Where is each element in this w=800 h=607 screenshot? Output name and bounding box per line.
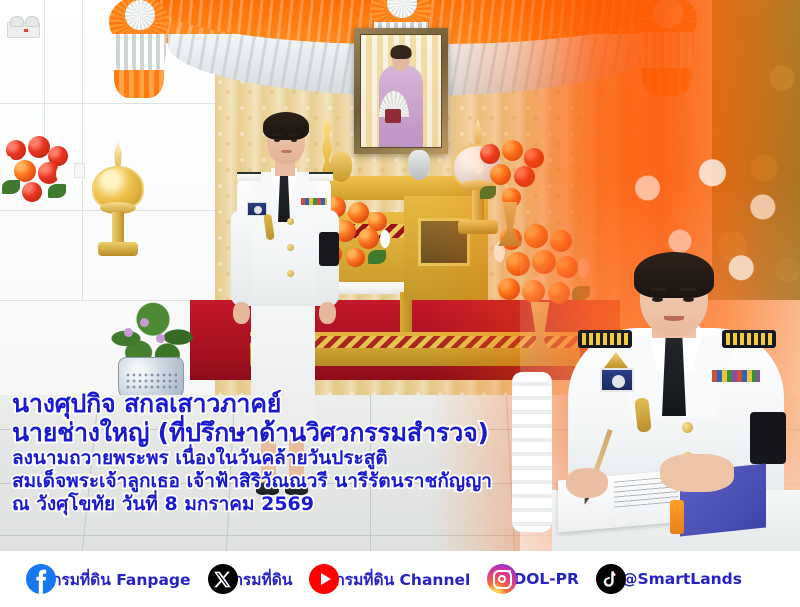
- caption-line-2: นายช่างใหญ่ (ที่ปรึกษาด้านวิศวกรรมสำรวจ): [12, 420, 672, 445]
- caption-line-4: สมเด็จพระเจ้าลูกเธอ เจ้าฟ้าสิริวัณณวรี น…: [12, 472, 672, 491]
- tiktok-icon[interactable]: [596, 564, 626, 594]
- royal-portrait-frame: [354, 28, 448, 154]
- facebook-label: กรมที่ดิน Fanpage: [52, 567, 191, 592]
- wall-socket: [74, 163, 85, 178]
- caption-line-3: ลงนามถวายพระพร เนื่องในวันคล้ายวันประสูต…: [12, 449, 672, 468]
- social-instagram[interactable]: DOL-PR: [487, 564, 579, 594]
- uniform-ribbon-bar-seated: [712, 370, 760, 382]
- royal-portrait-image: [360, 34, 442, 148]
- potted-plant-foliage: [108, 300, 198, 364]
- x-twitter-label: กรมที่ดิน: [234, 567, 293, 592]
- social-x-twitter[interactable]: กรมที่ดิน: [208, 564, 293, 594]
- uniform-insignia-badge: [247, 202, 267, 216]
- youtube-label: กรมที่ดิน Channel: [335, 567, 470, 592]
- instagram-label: DOL-PR: [513, 570, 579, 588]
- shoulder-board-right: [722, 330, 776, 348]
- emergency-light-indicator: [24, 29, 28, 32]
- bouquet-far-left: [2, 136, 72, 256]
- social-footer-bar: กรมที่ดิน Fanpage กรมที่ดิน กรมที่ดิน Ch…: [0, 551, 800, 607]
- silver-urn: [408, 150, 430, 180]
- caption-line-1: นางศุปกิจ สกลเสาวภาคย์: [12, 391, 672, 416]
- social-facebook[interactable]: กรมที่ดิน Fanpage: [26, 564, 191, 594]
- social-tiktok[interactable]: @SmartLands: [596, 564, 742, 594]
- poster-canvas: นางศุปกิจ สกลเสาวภาคย์ นายช่างใหญ่ (ที่ป…: [0, 0, 800, 607]
- rosette-bow-right: [628, 0, 706, 104]
- black-mourning-armband-seated: [750, 412, 786, 464]
- play-triangle-icon: [321, 573, 331, 585]
- uniform-insignia-badge-seated: [600, 368, 634, 392]
- caption-line-5: ณ วังศุโขทัย วันที่ 8 มกราคม 2569: [12, 495, 672, 514]
- event-photo: นางศุปกิจ สกลเสาวภาคย์ นายช่างใหญ่ (ที่ป…: [0, 0, 800, 551]
- bouquet-upper-right: [474, 140, 554, 230]
- rosette-bow-left: [100, 0, 178, 106]
- instagram-icon[interactable]: [487, 564, 517, 594]
- book-ribbon-clasp: [670, 500, 684, 534]
- x-twitter-icon[interactable]: [208, 564, 238, 594]
- royal-ornament-left: [88, 140, 148, 260]
- social-youtube[interactable]: กรมที่ดิน Channel: [309, 564, 470, 594]
- facebook-icon[interactable]: [26, 564, 56, 594]
- tiktok-label: @SmartLands: [622, 570, 742, 588]
- shoulder-board-left: [578, 330, 632, 348]
- uniform-ribbon-bar: [301, 198, 327, 205]
- caption-block: นางศุปกิจ สกลเสาวภาคย์ นายช่างใหญ่ (ที่ป…: [12, 391, 672, 518]
- black-mourning-armband: [319, 232, 339, 266]
